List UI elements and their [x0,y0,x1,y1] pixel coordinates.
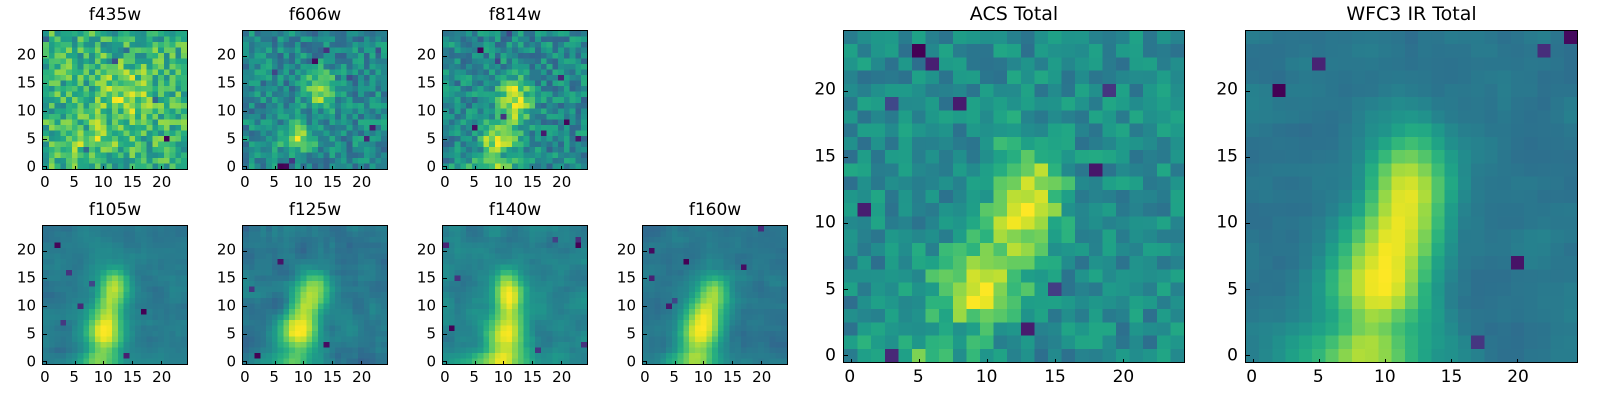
x-tick [761,364,762,365]
x-tick-inner [332,361,333,365]
y-tick-inner [844,355,848,356]
x-tick [75,169,76,170]
y-tick-label: 20 [17,48,36,63]
panel-f606w[interactable]: f606w 0510152005101520 [242,30,388,170]
x-tick-label: 20 [552,175,571,190]
panel-title: f606w [242,7,388,24]
heatmap-image-f606w[interactable] [242,30,388,170]
y-tick-inner [43,139,47,140]
y-tick-inner [443,83,447,84]
x-tick-inner [761,361,762,365]
y-tick-inner [443,166,447,167]
y-tick-inner [1246,355,1250,356]
y-tick-label: 0 [1227,348,1238,365]
heatmap-image-f105w[interactable] [42,225,188,365]
x-tick [987,362,988,363]
y-tick-label: 0 [226,160,236,175]
x-tick-label: 20 [1507,369,1529,386]
x-tick [446,169,447,170]
y-tick-inner [643,306,647,307]
y-tick-label: 10 [1216,215,1238,232]
x-tick-label: 0 [440,370,450,385]
y-tick-inner [243,139,247,140]
panel-acs-total[interactable]: ACS Total 0510152005101520 [843,30,1185,363]
x-tick [103,169,104,170]
y-tick-label: 10 [217,104,236,119]
x-tick-inner [732,361,733,365]
y-tick-inner [443,278,447,279]
x-tick-label: 5 [69,175,79,190]
y-tick-label: 20 [417,48,436,63]
x-tick-label: 15 [123,175,142,190]
y-tick-inner [443,251,447,252]
y-tick-inner [643,251,647,252]
x-tick-inner [161,166,162,170]
x-tick-inner [132,361,133,365]
y-tick-inner [43,361,47,362]
x-tick-label: 10 [494,175,513,190]
x-tick-label: 5 [69,370,79,385]
y-tick-inner [43,166,47,167]
y-tick-inner [1246,289,1250,290]
y-tick-inner [243,251,247,252]
x-tick-label: 0 [240,370,250,385]
y-tick-inner [643,278,647,279]
y-tick-inner [243,361,247,362]
x-tick-label: 5 [669,370,679,385]
y-tick-label: 20 [17,243,36,258]
x-tick [246,364,247,365]
y-tick-label: 5 [26,327,36,342]
x-tick [1123,362,1124,363]
x-tick-label: 0 [40,175,50,190]
x-tick [1253,362,1254,363]
y-tick-label: 15 [417,76,436,91]
y-tick-inner [243,334,247,335]
x-tick-label: 5 [1313,369,1324,386]
x-tick-inner [919,359,920,363]
x-tick-label: 0 [844,369,855,386]
x-tick-label: 5 [469,175,479,190]
y-tick-inner [443,334,447,335]
panel-f160w[interactable]: f160w 0510152005101520 [642,225,788,365]
x-tick-label: 10 [1374,369,1396,386]
x-tick [919,362,920,363]
x-tick-inner [561,166,562,170]
y-tick-label: 15 [217,271,236,286]
x-tick-label: 20 [152,175,171,190]
x-tick-inner [1451,359,1452,363]
x-tick-label: 0 [240,175,250,190]
y-tick-inner [1246,157,1250,158]
x-tick-inner [1055,359,1056,363]
x-tick [332,169,333,170]
y-tick-label: 15 [1216,148,1238,165]
x-tick-label: 0 [440,175,450,190]
x-tick-inner [1517,359,1518,363]
y-tick-label: 0 [825,348,836,365]
y-tick-inner [43,278,47,279]
panel-title: ACS Total [843,5,1185,24]
x-tick-inner [503,361,504,365]
x-tick [732,364,733,365]
y-tick-inner [243,306,247,307]
panel-title: WFC3 IR Total [1245,5,1578,24]
panel-f125w[interactable]: f125w 0510152005101520 [242,225,388,365]
y-tick-label: 10 [617,299,636,314]
y-tick-inner [1246,91,1250,92]
y-tick-inner [844,289,848,290]
x-tick [646,364,647,365]
panel-title: f160w [642,202,788,219]
y-tick-label: 5 [626,327,636,342]
y-tick-label: 5 [226,327,236,342]
x-tick [475,169,476,170]
x-tick [446,364,447,365]
y-tick-inner [643,334,647,335]
y-tick-inner [1246,223,1250,224]
x-tick-inner [503,166,504,170]
x-tick [1517,362,1518,363]
y-tick-label: 5 [426,132,436,147]
x-tick [1451,362,1452,363]
x-tick [246,169,247,170]
y-tick-inner [43,251,47,252]
y-tick-label: 5 [226,132,236,147]
x-tick [532,169,533,170]
x-tick-label: 5 [269,370,279,385]
y-tick-label: 10 [17,104,36,119]
y-tick-label: 10 [17,299,36,314]
x-tick [703,364,704,365]
y-tick-inner [443,111,447,112]
y-tick-inner [43,334,47,335]
x-tick-label: 0 [640,370,650,385]
x-tick-inner [303,361,304,365]
panel-title: f435w [42,7,188,24]
x-tick [1055,362,1056,363]
x-tick-inner [303,166,304,170]
x-tick-inner [1319,359,1320,363]
heatmap-image-f814w[interactable] [442,30,588,170]
x-tick-inner [75,166,76,170]
y-tick-inner [243,166,247,167]
x-tick-label: 15 [523,370,542,385]
x-tick-label: 0 [1246,369,1257,386]
x-tick-label: 20 [352,175,371,190]
heatmap-image-f140w[interactable] [442,225,588,365]
y-tick-inner [43,111,47,112]
x-tick-inner [1385,359,1386,363]
heatmap-image-wfc3-ir-total[interactable] [1245,30,1578,363]
y-tick-label: 15 [17,271,36,286]
y-tick-label: 5 [426,327,436,342]
x-tick-label: 20 [752,370,771,385]
y-tick-label: 0 [26,355,36,370]
x-tick-label: 10 [94,370,113,385]
x-tick [303,169,304,170]
x-tick-inner [1253,359,1254,363]
x-tick [75,364,76,365]
x-tick-label: 10 [294,370,313,385]
x-tick [103,364,104,365]
x-tick-inner [275,166,276,170]
x-tick-label: 20 [152,370,171,385]
y-tick-label: 15 [617,271,636,286]
x-tick [675,364,676,365]
y-tick-label: 20 [1216,81,1238,98]
panel-f105w[interactable]: f105w 0510152005101520 [42,225,188,365]
x-tick-label: 10 [94,175,113,190]
x-tick-inner [275,361,276,365]
x-tick-label: 15 [723,370,742,385]
x-tick-inner [75,361,76,365]
y-tick-inner [43,56,47,57]
y-tick-label: 15 [814,148,836,165]
heatmap-image-f160w[interactable] [642,225,788,365]
y-tick-label: 20 [217,48,236,63]
x-tick-inner [161,361,162,365]
panel-title: f140w [442,202,588,219]
x-tick [46,364,47,365]
x-tick [503,169,504,170]
y-tick-inner [43,83,47,84]
x-tick [361,364,362,365]
y-tick-label: 20 [814,81,836,98]
x-tick-label: 5 [913,369,924,386]
x-tick-label: 15 [523,175,542,190]
y-tick-label: 0 [26,160,36,175]
y-tick-label: 0 [226,355,236,370]
panel-title: f814w [442,7,588,24]
y-tick-label: 20 [617,243,636,258]
x-tick-label: 10 [294,175,313,190]
x-tick [275,169,276,170]
y-tick-inner [243,278,247,279]
x-tick [132,169,133,170]
x-tick [503,364,504,365]
x-tick-label: 15 [323,175,342,190]
x-tick-label: 20 [1113,369,1135,386]
y-tick-label: 10 [217,299,236,314]
x-tick-inner [361,361,362,365]
x-tick-inner [475,361,476,365]
x-tick-inner [561,361,562,365]
x-tick-inner [987,359,988,363]
x-tick [1385,362,1386,363]
x-tick [303,364,304,365]
x-tick-label: 15 [323,370,342,385]
figure-canvas: f435w 0510152005101520 f606w 05101520051… [0,0,1600,400]
x-tick-inner [103,166,104,170]
y-tick-label: 15 [17,76,36,91]
y-tick-inner [443,56,447,57]
x-tick-inner [332,166,333,170]
heatmap-image-f435w[interactable] [42,30,188,170]
x-tick-inner [532,166,533,170]
y-tick-inner [443,306,447,307]
x-tick-inner [675,361,676,365]
x-tick-label: 20 [552,370,571,385]
y-tick-label: 15 [217,76,236,91]
x-tick-label: 10 [976,369,998,386]
y-tick-label: 0 [426,355,436,370]
x-tick-inner [132,166,133,170]
y-tick-label: 0 [626,355,636,370]
y-tick-label: 10 [417,299,436,314]
y-tick-inner [643,361,647,362]
y-tick-label: 5 [1227,281,1238,298]
x-tick-label: 10 [694,370,713,385]
y-tick-label: 0 [426,160,436,175]
x-tick [561,364,562,365]
x-tick [275,364,276,365]
y-tick-inner [844,157,848,158]
x-tick-label: 20 [352,370,371,385]
panel-f435w[interactable]: f435w 0510152005101520 [42,30,188,170]
y-tick-inner [243,56,247,57]
x-tick-label: 15 [1044,369,1066,386]
x-tick [561,169,562,170]
heatmap-image-f125w[interactable] [242,225,388,365]
x-tick [161,169,162,170]
x-tick-label: 15 [1441,369,1463,386]
y-tick-inner [844,223,848,224]
x-tick-inner [1123,359,1124,363]
x-tick-label: 5 [469,370,479,385]
y-tick-inner [844,91,848,92]
x-tick [332,364,333,365]
x-tick [851,362,852,363]
y-tick-label: 5 [26,132,36,147]
x-tick-inner [703,361,704,365]
x-tick [532,364,533,365]
y-tick-label: 10 [814,215,836,232]
x-tick-label: 10 [494,370,513,385]
panel-title: f105w [42,202,188,219]
y-tick-label: 20 [217,243,236,258]
x-tick-inner [851,359,852,363]
y-tick-label: 5 [825,281,836,298]
panel-f140w[interactable]: f140w 0510152005101520 [442,225,588,365]
y-tick-inner [243,83,247,84]
x-tick [132,364,133,365]
x-tick [475,364,476,365]
y-tick-inner [243,111,247,112]
x-tick-label: 0 [40,370,50,385]
heatmap-image-acs-total[interactable] [843,30,1185,363]
x-tick [1319,362,1320,363]
y-tick-label: 15 [417,271,436,286]
panel-title: f125w [242,202,388,219]
x-tick-label: 15 [123,370,142,385]
x-tick [361,169,362,170]
x-tick-inner [361,166,362,170]
y-tick-label: 10 [417,104,436,119]
y-tick-label: 20 [417,243,436,258]
x-tick [46,169,47,170]
y-tick-inner [443,139,447,140]
panel-f814w[interactable]: f814w 0510152005101520 [442,30,588,170]
y-tick-inner [443,361,447,362]
x-tick [161,364,162,365]
x-tick-label: 5 [269,175,279,190]
panel-wfc3-ir-total[interactable]: WFC3 IR Total 0510152005101520 [1245,30,1578,363]
y-tick-inner [43,306,47,307]
x-tick-inner [532,361,533,365]
x-tick-inner [475,166,476,170]
x-tick-inner [103,361,104,365]
